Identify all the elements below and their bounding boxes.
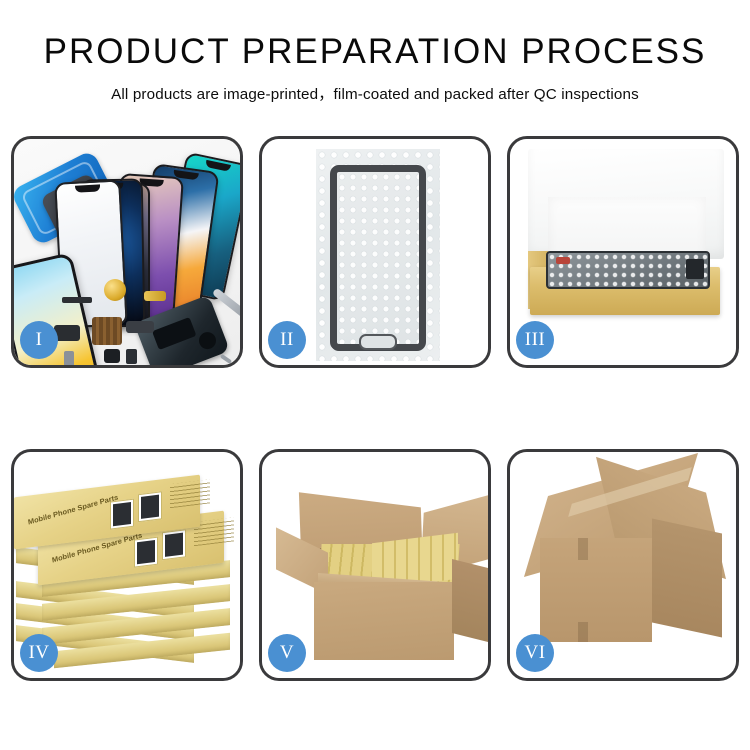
process-step-6[interactable]: VI (507, 449, 739, 681)
box-spec-lines (194, 517, 234, 546)
camera-module-part (104, 349, 120, 363)
process-step-3[interactable]: III (507, 136, 739, 368)
step-badge-1: I (20, 321, 58, 359)
sim-tray-part (64, 351, 74, 365)
bubble-wrap (316, 149, 440, 361)
box-spec-lines (170, 479, 210, 508)
carton-seam (578, 622, 588, 642)
box-thumbnail (162, 529, 186, 560)
home-button-icon (359, 334, 397, 350)
page-subtitle: All products are image-printed，film-coat… (0, 82, 750, 104)
flex-cable-part (144, 291, 166, 301)
flex-cable-part (126, 321, 154, 333)
box-thumbnail (138, 491, 162, 522)
process-step-4[interactable]: Mobile Phone Spare Parts Mobile Phone Sp… (11, 449, 243, 681)
button-part (126, 349, 137, 364)
chip-array-part (92, 317, 122, 345)
page-title: PRODUCT PREPARATION PROCESS (0, 34, 750, 71)
screw-part (220, 354, 232, 364)
process-step-1[interactable]: I (11, 136, 243, 368)
kraft-box-tray (530, 267, 720, 315)
carton-front-face (314, 582, 454, 660)
speaker-part (104, 279, 126, 301)
carton-side-face (452, 559, 488, 643)
page-header: PRODUCT PREPARATION PROCESS All products… (0, 0, 750, 104)
process-step-grid: I II III (11, 136, 739, 681)
step-badge-4: IV (20, 634, 58, 672)
step-badge-6: VI (516, 634, 554, 672)
box-label-text: Mobile Phone Spare Parts (27, 493, 118, 527)
step-badge-5: V (268, 634, 306, 672)
carton-front-face (540, 538, 652, 642)
process-step-5[interactable]: V (259, 449, 491, 681)
carton-right-face (652, 519, 722, 638)
earpiece-part (62, 297, 92, 303)
notch-icon (75, 184, 100, 192)
box-thumbnail (134, 537, 158, 568)
process-step-2[interactable]: II (259, 136, 491, 368)
step-badge-2: II (268, 321, 306, 359)
wrapped-product (546, 251, 710, 289)
box-thumbnail (110, 499, 134, 530)
step-badge-3: III (516, 321, 554, 359)
carton-seam (578, 538, 588, 560)
phone-screen-assembly (330, 165, 426, 351)
